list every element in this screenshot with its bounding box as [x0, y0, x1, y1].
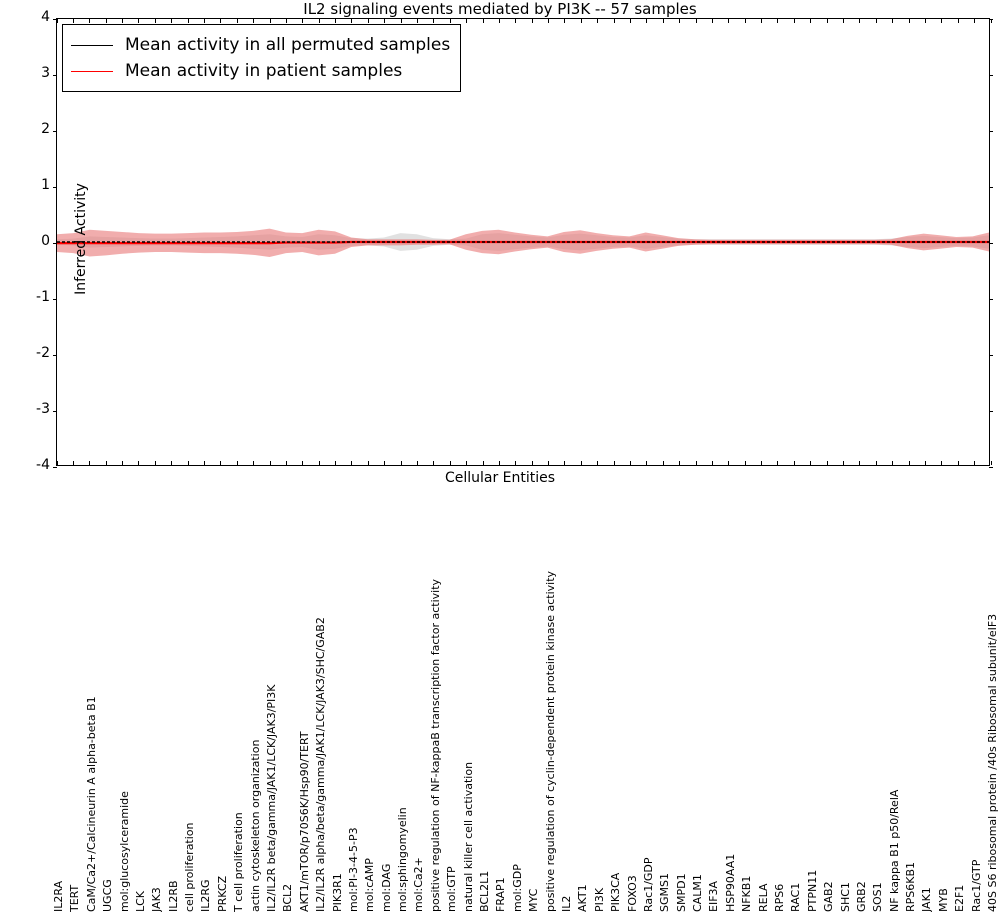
x-category-label: Rac1/GTP — [971, 860, 982, 912]
x-category-label: LCK — [135, 891, 146, 912]
legend-label-patient: Mean activity in patient samples — [125, 61, 402, 81]
x-category-label: RELA — [758, 884, 769, 912]
x-category-label: FOXO3 — [627, 875, 638, 912]
x-category-label: 40S S6 ribosomal protein /40s Ribosomal … — [987, 614, 998, 912]
x-category-label: mol:DAG — [381, 864, 392, 912]
x-category-label: RAC1 — [790, 883, 801, 912]
chart-figure: IL2 signaling events mediated by PI3K --… — [0, 0, 1000, 500]
x-category-label: mol:cAMP — [364, 858, 375, 912]
x-category-label: IL2 — [561, 896, 572, 912]
x-category-label: IL2RA — [53, 881, 64, 912]
x-category-label: TERT — [69, 885, 80, 912]
x-category-label: E2F1 — [954, 885, 965, 912]
x-tick-mark — [991, 19, 992, 23]
legend-swatch-patient — [71, 71, 113, 72]
x-category-label: mol:glucosylceramide — [119, 791, 130, 912]
x-category-label: mol:PI-3-4-5-P3 — [348, 827, 359, 912]
y-tick-label: 1 — [6, 178, 50, 192]
y-tick-label: -2 — [6, 346, 50, 360]
chart-title: IL2 signaling events mediated by PI3K --… — [0, 0, 1000, 18]
y-tick-label: 0 — [6, 234, 50, 248]
x-category-label: GRB2 — [856, 881, 867, 912]
x-category-label: T cell proliferation — [233, 812, 244, 912]
x-category-label: IL2/IL2R alpha/beta/gamma/JAK1/LCK/JAK3/… — [315, 617, 326, 912]
y-tick-label: -3 — [6, 402, 50, 416]
x-category-label: IL2RG — [200, 879, 211, 912]
x-category-label: BCL2L1 — [479, 871, 490, 912]
y-tick-label: 4 — [6, 10, 50, 24]
x-category-label: PI3K — [594, 888, 605, 912]
x-category-label: JAK3 — [151, 887, 162, 912]
x-axis-label: Cellular Entities — [0, 470, 1000, 486]
x-category-label: AKT1/mTOR/p70S6K/Hsp90/TERT — [299, 731, 310, 912]
x-category-label: NFKB1 — [741, 876, 752, 912]
x-category-label: natural killer cell activation — [463, 762, 474, 912]
y-tick-label: 2 — [6, 122, 50, 136]
x-category-label: CaM/Ca2+/Calcineurin A alpha-beta B1 — [86, 696, 97, 912]
x-category-label: IL2/IL2R beta/gamma/JAK1/LCK/JAK3/PI3K — [266, 684, 277, 912]
x-category-label: BCL2 — [282, 884, 293, 912]
x-category-label: NF kappa B1 p50/RelA — [889, 790, 900, 912]
x-category-label: mol:sphingomyelin — [397, 807, 408, 912]
x-category-label: MYB — [938, 888, 949, 912]
x-category-label: positive regulation of cyclin-dependent … — [545, 571, 556, 912]
x-category-label: IL2RB — [168, 880, 179, 912]
legend-label-permuted: Mean activity in all permuted samples — [125, 35, 450, 55]
x-category-label: cell proliferation — [184, 822, 195, 912]
x-category-label: SOS1 — [872, 882, 883, 912]
x-category-label: mol:GTP — [446, 866, 457, 912]
x-category-label: GAB2 — [823, 881, 834, 912]
x-category-label: EIF3A — [708, 881, 719, 912]
x-category-label: AKT1 — [577, 884, 588, 912]
x-category-label: mol:GDP — [512, 864, 523, 912]
y-tick-label: 3 — [6, 66, 50, 80]
x-category-label: SHC1 — [840, 882, 851, 912]
x-category-label: MYC — [528, 889, 539, 912]
x-category-label: Rac1/GDP — [643, 857, 654, 912]
x-category-label: CALM1 — [692, 874, 703, 912]
y-tick-label: -1 — [6, 290, 50, 304]
chart-legend: Mean activity in all permuted samples Me… — [62, 24, 461, 92]
x-tick-mark — [991, 461, 992, 465]
x-category-label: positive regulation of NF-kappaB transcr… — [430, 579, 441, 912]
x-category-label: SGMS1 — [659, 873, 670, 912]
x-category-label: PIK3CA — [610, 873, 621, 912]
legend-entry-patient: Mean activity in patient samples — [71, 58, 450, 84]
legend-entry-permuted: Mean activity in all permuted samples — [71, 32, 450, 58]
legend-swatch-permuted — [71, 45, 113, 46]
x-category-label: FRAP1 — [495, 877, 506, 912]
x-category-label: PTPN11 — [807, 870, 818, 912]
x-category-label: HSP90AA1 — [725, 854, 736, 912]
x-category-label: actin cytoskeleton organization — [250, 740, 261, 912]
x-category-label: PRKCZ — [217, 876, 228, 912]
x-category-label: JAK1 — [921, 887, 932, 912]
x-category-label: mol:Ca2+ — [413, 857, 424, 912]
x-category-label: RPS6KB1 — [905, 862, 916, 912]
y-tick-mark — [53, 467, 57, 468]
x-category-label: SMPD1 — [676, 873, 687, 912]
x-category-label: PIK3R1 — [332, 873, 343, 912]
x-category-label: RPS6 — [774, 884, 785, 912]
x-category-label: UGCG — [102, 879, 113, 912]
y-tick-mark — [989, 467, 993, 468]
